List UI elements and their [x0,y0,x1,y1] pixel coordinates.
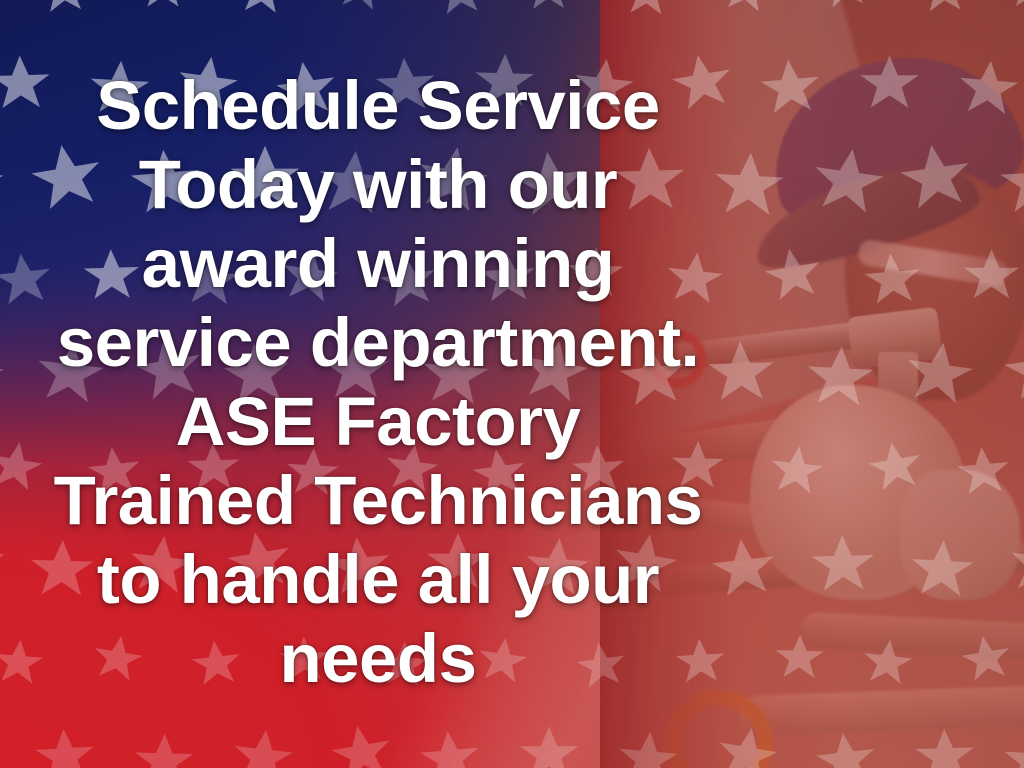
page-title: Schedule Service Today with our award wi… [42,66,714,698]
headline-line-5: ASE Factory [42,382,714,461]
headline-line-7: to handle all your [42,540,714,619]
headline-line-8: needs [42,619,714,698]
headline-line-3: award winning [42,224,714,303]
service-promo-banner: Schedule Service Today with our award wi… [0,0,1024,768]
headline-line-6: Trained Technicians [42,461,714,540]
headline-line-4: service department. [42,303,714,382]
headline-line-1: Schedule Service [42,66,714,145]
headline-line-2: Today with our [42,145,714,224]
